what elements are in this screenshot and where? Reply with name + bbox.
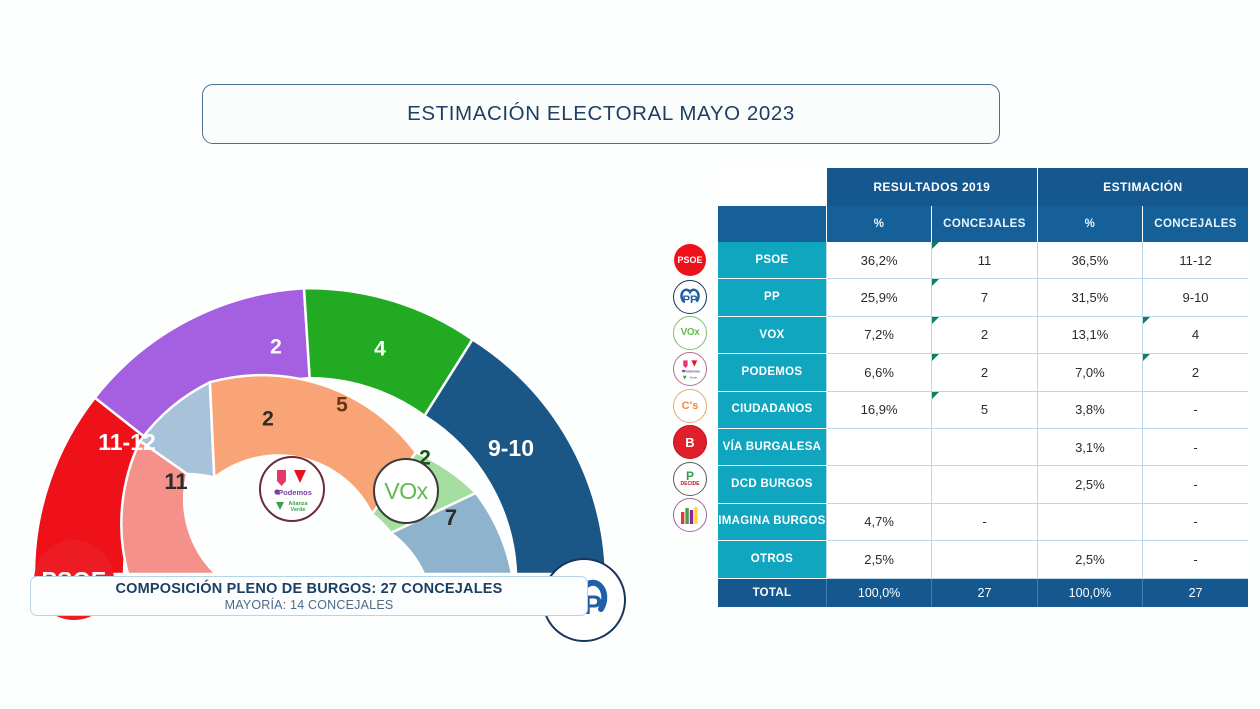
arc-label-outer-podemos: 2 [270, 336, 282, 359]
caption-main-text: COMPOSICIÓN PLENO DE BURGOS: 27 CONCEJAL… [115, 581, 502, 597]
table-row: OTROS 2,5% 2,5% - [718, 541, 1248, 578]
subheader-est-seats: CONCEJALES [1143, 206, 1248, 242]
cell-imagina-burgos-est-pct [1037, 503, 1142, 540]
header-group-resultados-2019: RESULTADOS 2019 [826, 168, 1037, 206]
cell-vox-est-pct: 13,1% [1037, 316, 1142, 353]
cell-imagina-burgos-r19-pct: 4,7% [826, 503, 931, 540]
cell-imagina-burgos-est-seats: - [1143, 503, 1248, 540]
cell-via-burgalesa-r19-seats [932, 428, 1037, 465]
logo-cell-imagina-burgos [668, 497, 712, 533]
cell-psoe-est-pct: 36,5% [1037, 242, 1142, 279]
subheader-corner-blank [718, 206, 826, 242]
table-body: PSOE 36,2% 11 36,5% 11-12 PP 25,9% 7 31,… [718, 242, 1248, 607]
arc-label-outer-psoe: 11-12 [98, 429, 156, 455]
podemos-logo: Podemos Alianza Verde [259, 456, 325, 522]
arc-label-inner-ciudadanos: 5 [336, 394, 348, 417]
party-logo-column: PSOE PP VOx [668, 242, 712, 606]
svg-text:Verde: Verde [689, 376, 697, 380]
cell-podemos-est-seats: 2 [1143, 354, 1248, 391]
vox-logo: VOx [673, 316, 707, 350]
arc-label-outer-pp: 9-10 [488, 435, 534, 461]
logo-cell-pp: PP [668, 278, 712, 314]
row-party-pp: PP [718, 279, 826, 316]
hemicycle-chart: 11-12 2 4 9-10 11 2 5 2 7 PSOE PP [14, 222, 626, 614]
table-row: VÍA BURGALESA 3,1% - [718, 428, 1248, 465]
cell-otros-r19-pct: 2,5% [826, 541, 931, 578]
table-total-row: TOTAL 100,0% 27 100,0% 27 [718, 578, 1248, 607]
header-group-estimacion: ESTIMACIÓN [1037, 168, 1248, 206]
imagina-burgos-logo [673, 498, 707, 532]
via-burgalesa-logo: B [673, 425, 707, 459]
page-title-box: ESTIMACIÓN ELECTORAL MAYO 2023 [202, 84, 1000, 144]
row-party-podemos: PODEMOS [718, 354, 826, 391]
cell-vox-est-seats: 4 [1143, 316, 1248, 353]
infographic-canvas: ESTIMACIÓN ELECTORAL MAYO 2023 [0, 0, 1260, 709]
logo-cell-otros [668, 533, 712, 606]
total-r19-seats: 27 [932, 578, 1037, 607]
ciudadanos-logo: C's [673, 389, 707, 423]
caption-sub-text: MAYORÍA: 14 CONCEJALES [225, 598, 394, 612]
logo-cell-vox: VOx [668, 315, 712, 351]
cell-podemos-r19-seats: 2 [932, 354, 1037, 391]
logo-cell-via-burgalesa: B [668, 424, 712, 460]
subheader-r19-seats: CONCEJALES [932, 206, 1037, 242]
total-label: TOTAL [718, 578, 826, 607]
vox-logo: VOx [373, 458, 439, 524]
table-group-header-row: RESULTADOS 2019 ESTIMACIÓN [718, 168, 1248, 206]
cell-otros-est-pct: 2,5% [1037, 541, 1142, 578]
total-est-seats: 27 [1143, 578, 1248, 607]
cell-vox-r19-pct: 7,2% [826, 316, 931, 353]
cell-pp-est-seats: 9-10 [1143, 279, 1248, 316]
table-row: IMAGINA BURGOS 4,7% - - [718, 503, 1248, 540]
results-table-wrap: PSOE PP VOx [668, 168, 1248, 584]
row-party-psoe: PSOE [718, 242, 826, 279]
row-party-ciudadanos: CIUDADANOS [718, 391, 826, 428]
cell-vox-r19-seats: 2 [932, 316, 1037, 353]
cell-otros-est-seats: - [1143, 541, 1248, 578]
cell-dcd-burgos-est-seats: - [1143, 466, 1248, 503]
table-row: PODEMOS 6,6% 2 7,0% 2 [718, 354, 1248, 391]
cell-via-burgalesa-r19-pct [826, 428, 931, 465]
cell-ciudadanos-est-pct: 3,8% [1037, 391, 1142, 428]
logo-cell-ciudadanos: C's [668, 388, 712, 424]
table-row: CIUDADANOS 16,9% 5 3,8% - [718, 391, 1248, 428]
logo-cell-podemos: Podemos Verde [668, 351, 712, 387]
table-row: PP 25,9% 7 31,5% 9-10 [718, 279, 1248, 316]
cell-podemos-est-pct: 7,0% [1037, 354, 1142, 391]
subheader-r19-pct: % [826, 206, 931, 242]
cell-dcd-burgos-r19-pct [826, 466, 931, 503]
total-est-pct: 100,0% [1037, 578, 1142, 607]
cell-pp-est-pct: 31,5% [1037, 279, 1142, 316]
dcd-burgos-logo: P DECIDE [673, 462, 707, 496]
row-party-imagina-burgos: IMAGINA BURGOS [718, 503, 826, 540]
table-row: PSOE 36,2% 11 36,5% 11-12 [718, 242, 1248, 279]
page-title: ESTIMACIÓN ELECTORAL MAYO 2023 [407, 102, 795, 126]
cell-ciudadanos-est-seats: - [1143, 391, 1248, 428]
row-party-otros: OTROS [718, 541, 826, 578]
table-sub-header-row: % CONCEJALES % CONCEJALES [718, 206, 1248, 242]
cell-dcd-burgos-r19-seats [932, 466, 1037, 503]
table-row: VOX 7,2% 2 13,1% 4 [718, 316, 1248, 353]
table-head: RESULTADOS 2019 ESTIMACIÓN % CONCEJALES … [718, 168, 1248, 242]
hemicycle-caption: COMPOSICIÓN PLENO DE BURGOS: 27 CONCEJAL… [30, 576, 588, 616]
row-party-dcd-burgos: DCD BURGOS [718, 466, 826, 503]
header-corner-blank [718, 168, 826, 206]
svg-text:Verde: Verde [291, 507, 306, 513]
svg-text:PP: PP [682, 293, 698, 305]
podemos-logo-mark: Podemos Alianza Verde [264, 461, 320, 517]
arc-label-inner-podemos: 2 [262, 408, 274, 431]
podemos-logo-mark: Podemos Verde [677, 356, 704, 383]
cell-via-burgalesa-est-pct: 3,1% [1037, 428, 1142, 465]
svg-text:Podemos: Podemos [278, 488, 312, 497]
arc-label-outer-vox: 4 [374, 338, 386, 361]
cell-ciudadanos-r19-seats: 5 [932, 391, 1037, 428]
cell-psoe-r19-pct: 36,2% [826, 242, 931, 279]
imagina-burgos-logo-mark [678, 503, 702, 527]
cell-podemos-r19-pct: 6,6% [826, 354, 931, 391]
cell-via-burgalesa-est-seats: - [1143, 428, 1248, 465]
row-party-via-burgalesa: VÍA BURGALESA [718, 428, 826, 465]
pp-logo-mark: PP [677, 284, 703, 310]
vox-logo-text: VOx [384, 478, 427, 505]
row-party-vox: VOX [718, 316, 826, 353]
svg-text:Podemos: Podemos [683, 369, 699, 373]
cell-pp-r19-seats: 7 [932, 279, 1037, 316]
cell-dcd-burgos-est-pct: 2,5% [1037, 466, 1142, 503]
arc-label-inner-psoe: 11 [164, 469, 187, 494]
psoe-logo: PSOE [674, 244, 706, 276]
cell-pp-r19-pct: 25,9% [826, 279, 931, 316]
cell-psoe-r19-seats: 11 [932, 242, 1037, 279]
cell-imagina-burgos-r19-seats: - [932, 503, 1037, 540]
logo-cell-dcd-burgos: P DECIDE [668, 460, 712, 496]
cell-psoe-est-seats: 11-12 [1143, 242, 1248, 279]
results-table: RESULTADOS 2019 ESTIMACIÓN % CONCEJALES … [718, 168, 1248, 607]
arc-label-inner-pp: 7 [445, 505, 457, 530]
podemos-logo: Podemos Verde [673, 352, 707, 386]
logo-cell-psoe: PSOE [668, 242, 712, 278]
table-row: DCD BURGOS 2,5% - [718, 466, 1248, 503]
subheader-est-pct: % [1037, 206, 1142, 242]
cell-ciudadanos-r19-pct: 16,9% [826, 391, 931, 428]
total-r19-pct: 100,0% [826, 578, 931, 607]
cell-otros-r19-seats [932, 541, 1037, 578]
pp-logo: PP [673, 280, 707, 314]
